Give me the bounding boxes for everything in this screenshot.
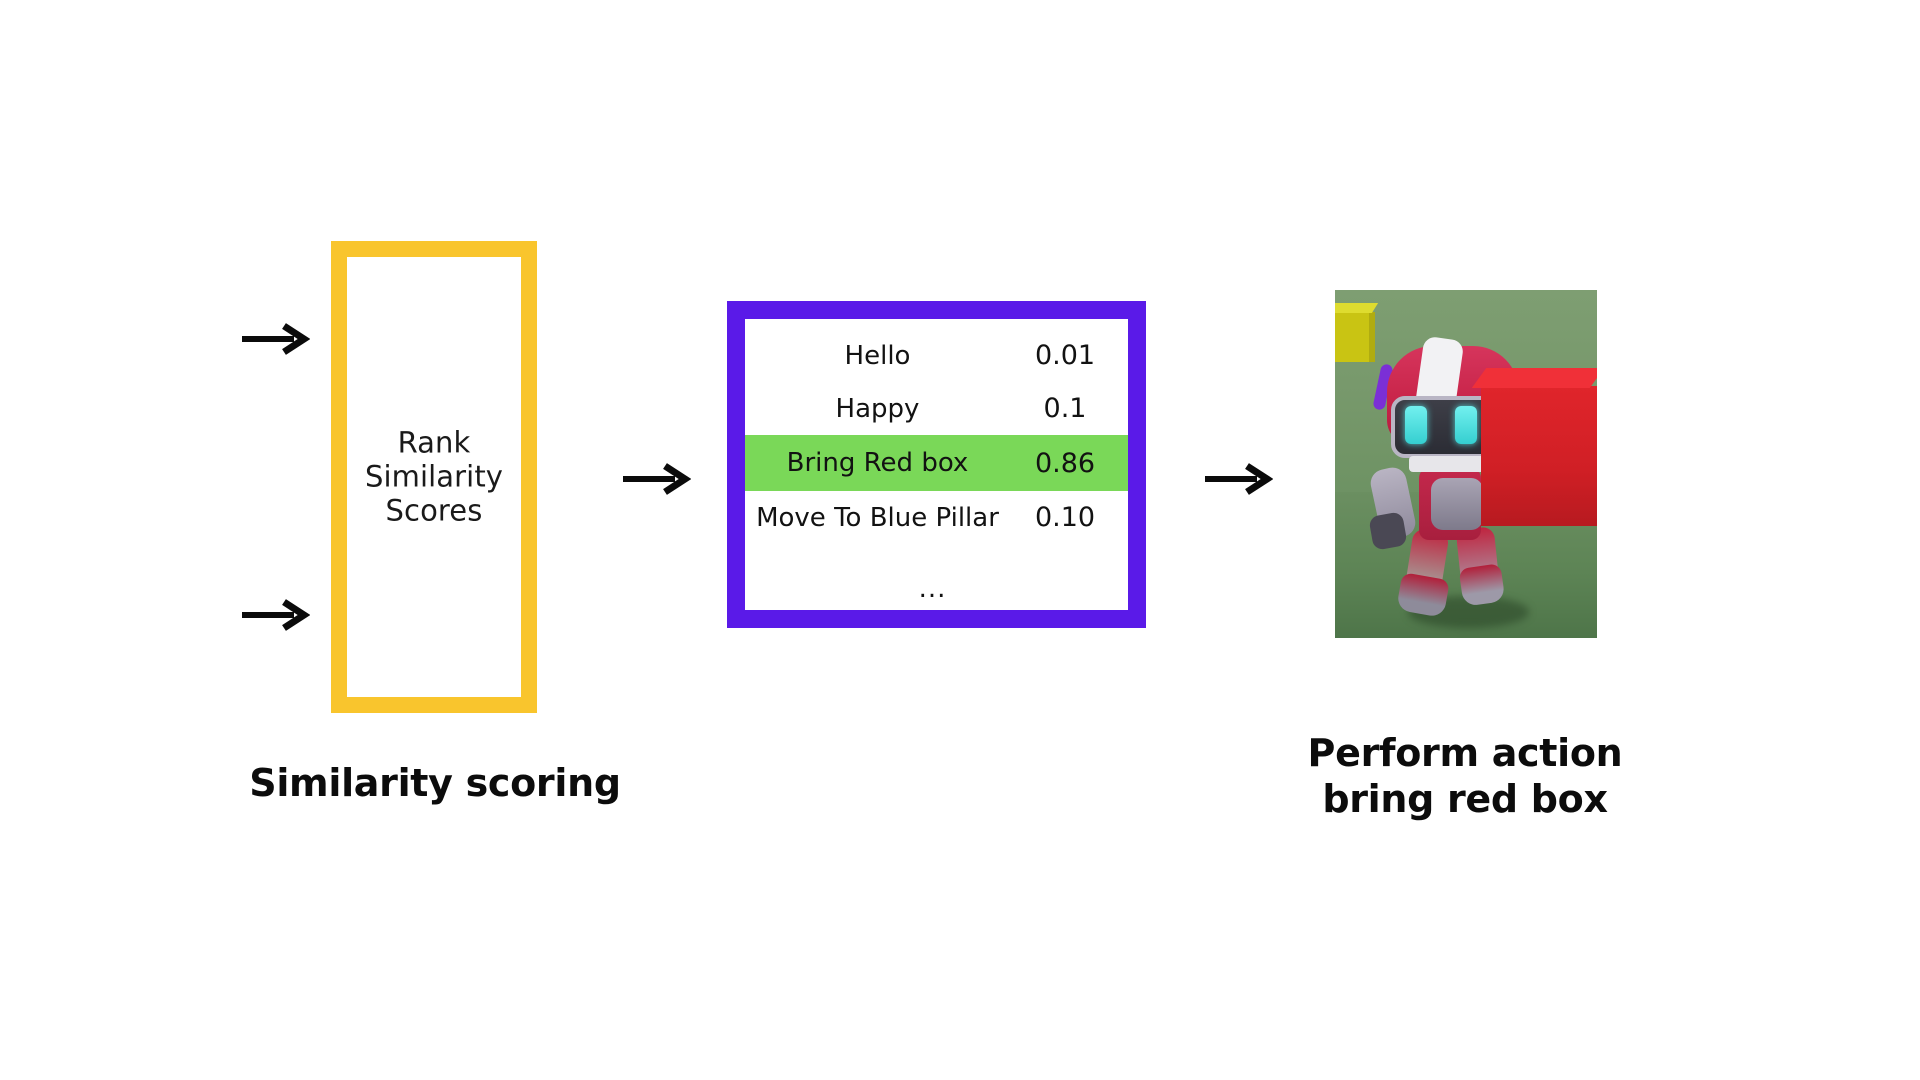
caption-perform-action: Perform action bring red box: [1265, 730, 1665, 823]
caption-perform-line-1: Perform action: [1265, 730, 1665, 776]
caption-perform-line-2: bring red box: [1265, 776, 1665, 822]
score-label: Move To Blue Pillar: [745, 503, 1010, 533]
robot-chin: [1409, 456, 1487, 472]
red-cube: [1481, 386, 1597, 526]
arrow-middle-icon: [621, 462, 691, 496]
robot-scene-image: [1335, 290, 1597, 638]
arrow-in-top-icon: [240, 322, 310, 356]
rank-box-line-3: Scores: [347, 494, 521, 528]
table-row: Happy 0.1: [745, 382, 1128, 435]
table-row: Move To Blue Pillar 0.10: [745, 491, 1128, 544]
score-value: 0.1: [1010, 393, 1120, 424]
score-label: Happy: [745, 394, 1010, 424]
rank-similarity-scores-box: Rank Similarity Scores: [331, 241, 537, 713]
yellow-cube: [1335, 312, 1375, 362]
rank-box-label: Rank Similarity Scores: [347, 426, 521, 529]
score-value: 0.01: [1010, 340, 1120, 371]
diagram-canvas: Rank Similarity Scores Hello 0.01 Happy …: [0, 0, 1920, 1080]
score-table-box: Hello 0.01 Happy 0.1 Bring Red box 0.86 …: [727, 301, 1146, 628]
arrow-in-bottom-icon: [240, 598, 310, 632]
score-value: 0.86: [1010, 448, 1120, 479]
rank-box-line-1: Rank: [347, 426, 521, 460]
score-table: Hello 0.01 Happy 0.1 Bring Red box 0.86 …: [745, 319, 1128, 610]
rank-box-line-2: Similarity: [347, 460, 521, 494]
robot-eye-right: [1455, 406, 1477, 444]
arrow-right-icon: [1203, 462, 1273, 496]
caption-similarity-line-1: Similarity scoring: [180, 760, 690, 806]
score-label: Hello: [745, 341, 1010, 371]
robot-eye-left: [1405, 406, 1427, 444]
table-row-selected: Bring Red box 0.86: [745, 435, 1128, 491]
robot-arm-right: [1431, 478, 1483, 530]
table-row: Hello 0.01: [745, 329, 1128, 382]
caption-similarity-scoring: Similarity scoring: [180, 760, 690, 806]
score-table-ellipsis: ...: [745, 574, 1128, 604]
score-label: Bring Red box: [745, 448, 1010, 478]
score-value: 0.10: [1010, 502, 1120, 533]
robot-hand-left: [1368, 511, 1407, 550]
